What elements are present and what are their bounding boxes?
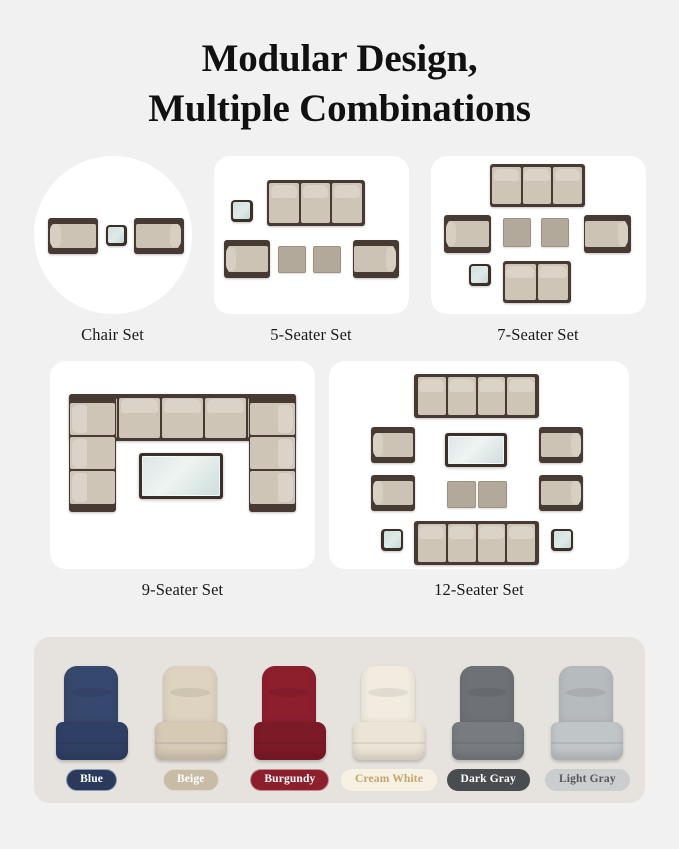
cushion-backrest [262,666,316,728]
ottoman-1 [278,246,306,273]
chair-right [584,215,631,253]
sofa-2-seat-bottom [503,261,571,303]
side-table [469,264,491,286]
sofa-3-seat-top [490,164,585,207]
set-card-5-seater[interactable]: 5-Seater Set [214,156,409,345]
cushion-backrest [163,666,217,728]
page-title-line-1: Modular Design, [0,34,679,84]
coffee-table [445,433,507,467]
chair-right [134,218,184,254]
set-card-7-seater[interactable]: 7-Seater Set [431,156,646,345]
set-row-bottom: 9-Seater Set [34,361,645,600]
cushion-seat [56,722,128,760]
set-label-7-seater: 7-Seater Set [497,325,578,345]
color-swatch-panel: Blue Beige Burgundy Cream White [34,637,645,803]
chair-right [353,240,399,278]
side-table-right [551,529,573,551]
page-title-line-2: Multiple Combinations [0,84,679,134]
set-card-12-seater-image [329,361,629,569]
ottoman-2 [313,246,341,273]
cushion-illustration [550,666,624,762]
set-gallery: Chair Set [0,156,679,600]
cushion-illustration [253,666,327,762]
set-card-5-seater-image [214,156,409,314]
cushion-seat [353,722,425,760]
cushion-backrest [361,666,415,728]
cushion-illustration [352,666,426,762]
color-label-burgundy: Burgundy [250,769,329,791]
set-label-12-seater: 12-Seater Set [434,580,524,600]
sofa-4-seat-bottom [414,521,539,565]
color-label-blue: Blue [66,769,117,791]
cushion-seat [551,722,623,760]
set-card-chair[interactable]: Chair Set [34,156,192,345]
ottoman-2 [478,481,507,508]
side-table-left [381,529,403,551]
set-card-9-seater[interactable]: 9-Seater Set [50,361,315,600]
cushion-backrest [559,666,613,728]
color-swatch-beige[interactable]: Beige [143,666,239,791]
color-label-dark-gray: Dark Gray [447,769,530,791]
color-swatch-blue[interactable]: Blue [44,666,140,791]
chair-left [48,218,98,254]
sectional-right-run [249,394,296,512]
color-swatch-row: Blue Beige Burgundy Cream White [34,637,645,803]
side-table [231,200,253,222]
set-card-9-seater-image [50,361,315,569]
chair-right-upper [539,427,583,463]
ottoman-1 [447,481,476,508]
set-card-7-seater-image [431,156,646,314]
set-card-chair-image [34,156,192,314]
sectional-left-run [69,394,116,512]
cushion-illustration [154,666,228,762]
color-label-light-gray: Light Gray [545,769,630,791]
set-card-12-seater[interactable]: 12-Seater Set [329,361,629,600]
set-label-9-seater: 9-Seater Set [142,580,223,600]
chair-left [224,240,270,278]
chair-left-lower [371,475,415,511]
chair-left-upper [371,427,415,463]
cushion-seat [254,722,326,760]
set-row-top: Chair Set [34,156,645,345]
color-swatch-dark-gray[interactable]: Dark Gray [440,666,536,791]
sofa-3-seat [267,180,365,226]
set-label-chair: Chair Set [81,325,144,345]
ottoman-2 [541,218,569,247]
cushion-seat [452,722,524,760]
cushion-illustration [55,666,129,762]
ottoman-1 [503,218,531,247]
cushion-seat [155,722,227,760]
cushion-illustration [451,666,525,762]
color-label-beige: Beige [163,769,219,791]
sofa-4-seat-top [414,374,539,418]
color-swatch-light-gray[interactable]: Light Gray [539,666,635,791]
set-label-5-seater: 5-Seater Set [270,325,351,345]
page-title: Modular Design, Multiple Combinations [0,0,679,134]
cushion-backrest [460,666,514,728]
cushion-backrest [64,666,118,728]
side-table [106,225,127,246]
color-label-cream-white: Cream White [341,769,437,791]
chair-left [444,215,491,253]
chair-right-lower [539,475,583,511]
color-swatch-cream-white[interactable]: Cream White [341,666,437,791]
color-swatch-burgundy[interactable]: Burgundy [242,666,338,791]
coffee-table [139,453,223,499]
